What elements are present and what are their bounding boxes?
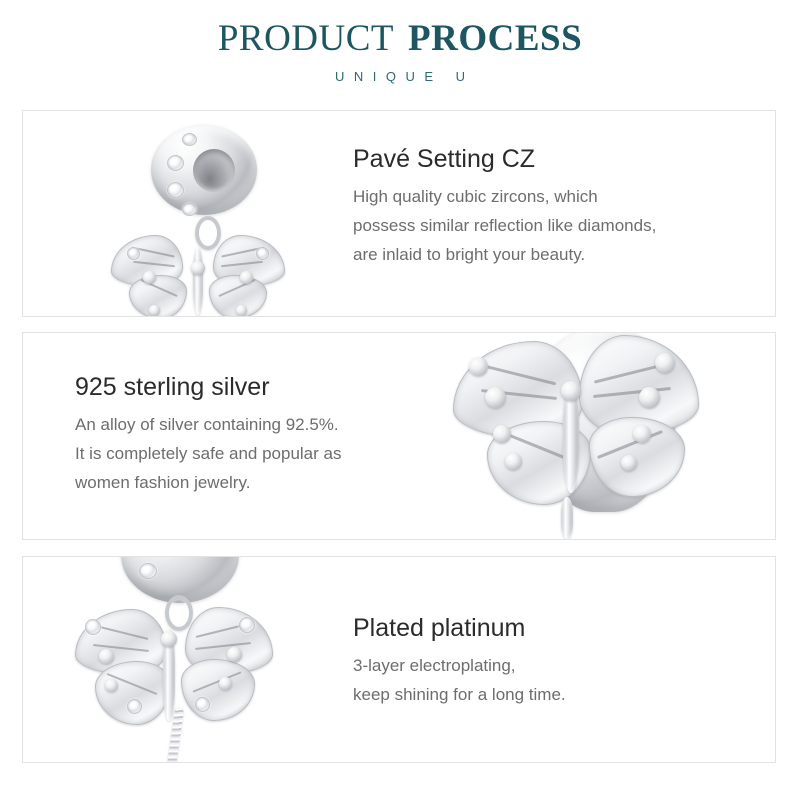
wing-bead [105,679,118,692]
feature-title: 925 sterling silver [75,371,341,403]
page-header: PRODUCTPROCESS UNIQUE U [0,18,800,84]
wing-bead [621,455,637,471]
title-word-process: PROCESS [408,18,582,59]
wing-bead [236,305,247,316]
wing-bead [219,677,232,690]
cz-stone [167,182,184,198]
butterfly-head [191,261,205,275]
cz-stone [239,617,255,633]
feature-desc-line: 3-layer electroplating, [353,651,566,680]
wing-bead [655,353,675,373]
product-image-925-sterling-silver: S925 [443,333,776,539]
feature-desc-line: are inlaid to bright your beauty. [353,240,656,269]
pendant-bail [195,216,221,250]
feature-text-pave-setting-cz: Pavé Setting CZ High quality cubic zirco… [353,143,656,269]
pendant-bail [165,595,193,631]
wing-bead [505,453,522,470]
butterfly-head [161,631,177,647]
product-image-plated-platinum [43,557,353,762]
feature-desc-line: keep shining for a long time. [353,680,566,709]
wing-bead [633,425,651,443]
title-word-product: PRODUCT [218,18,394,59]
wing-bead [227,647,242,662]
cz-stone [139,563,157,579]
cz-stone [127,247,140,260]
butterfly-wing-lower-left [95,661,171,725]
feature-text-925-sterling-silver: 925 sterling silver An alloy of silver c… [75,371,341,497]
wing-bead [149,305,160,316]
product-image-pave-setting-cz [83,111,343,316]
cz-stone [195,697,210,712]
cz-stone [182,133,197,146]
feature-text-plated-platinum: Plated platinum 3-layer electroplating, … [353,612,566,709]
feature-card-pave-setting-cz: Pavé Setting CZ High quality cubic zirco… [22,110,776,317]
butterfly-head [561,381,581,401]
feature-desc-line: possess similar reflection like diamonds… [353,211,656,240]
cz-stone [182,203,197,216]
wing-bead [469,357,488,376]
feature-desc-line: It is completely safe and popular as [75,439,341,468]
cz-stone [85,619,101,635]
cz-stone [167,155,184,171]
page-title: PRODUCTPROCESS [0,18,800,60]
feature-title: Plated platinum [353,612,566,644]
page-subtitle: UNIQUE U [0,69,800,84]
feature-desc-line: High quality cubic zircons, which [353,182,656,211]
wing-bead [485,387,506,408]
butterfly-body [193,247,203,315]
bead-hole [193,149,235,192]
wing-bead [493,425,511,443]
wing-bead [639,387,660,408]
pendant-stem [561,497,573,539]
feature-desc-line: An alloy of silver containing 92.5%. [75,410,341,439]
product-process-infographic: PRODUCTPROCESS UNIQUE U [0,0,800,800]
feature-card-plated-platinum: Plated platinum 3-layer electroplating, … [22,556,776,763]
wing-bead [99,649,114,664]
feature-title: Pavé Setting CZ [353,143,656,175]
cz-stone [256,247,269,260]
wing-bead [240,271,253,284]
cz-stone [127,699,142,714]
wing-bead [143,271,156,284]
feature-card-925-sterling-silver: 925 sterling silver An alloy of silver c… [22,332,776,540]
feature-desc-line: women fashion jewelry. [75,468,341,497]
